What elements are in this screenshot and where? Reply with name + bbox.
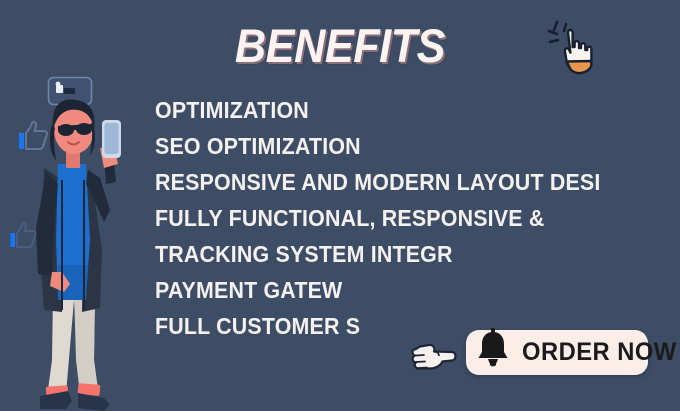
list-item: PAYMENT GATEW [155,272,546,308]
list-item: FULLY FUNCTIONAL, RESPONSIVE & [155,200,546,236]
page-title: BENEFITS [27,22,653,69]
order-now-button[interactable]: ORDER NOW [466,330,648,375]
bell-icon [470,325,516,371]
order-now-label: ORDER NOW [522,330,677,375]
benefits-list: OPTIMIZATION SEO OPTIMIZATION RESPONSIVE… [155,92,575,344]
person-holding-phone-illustration [0,60,150,411]
list-item: RESPONSIVE AND MODERN LAYOUT DESI [155,164,546,200]
list-item: OPTIMIZATION [155,92,546,128]
promo-banner: BENEFITS OPTIMIZATION SEO OPTIMIZATION R… [0,0,680,411]
list-item: SEO OPTIMIZATION [155,128,546,164]
pointing-right-hand-icon [408,333,460,377]
list-item: TRACKING SYSTEM INTEGR [155,236,546,272]
